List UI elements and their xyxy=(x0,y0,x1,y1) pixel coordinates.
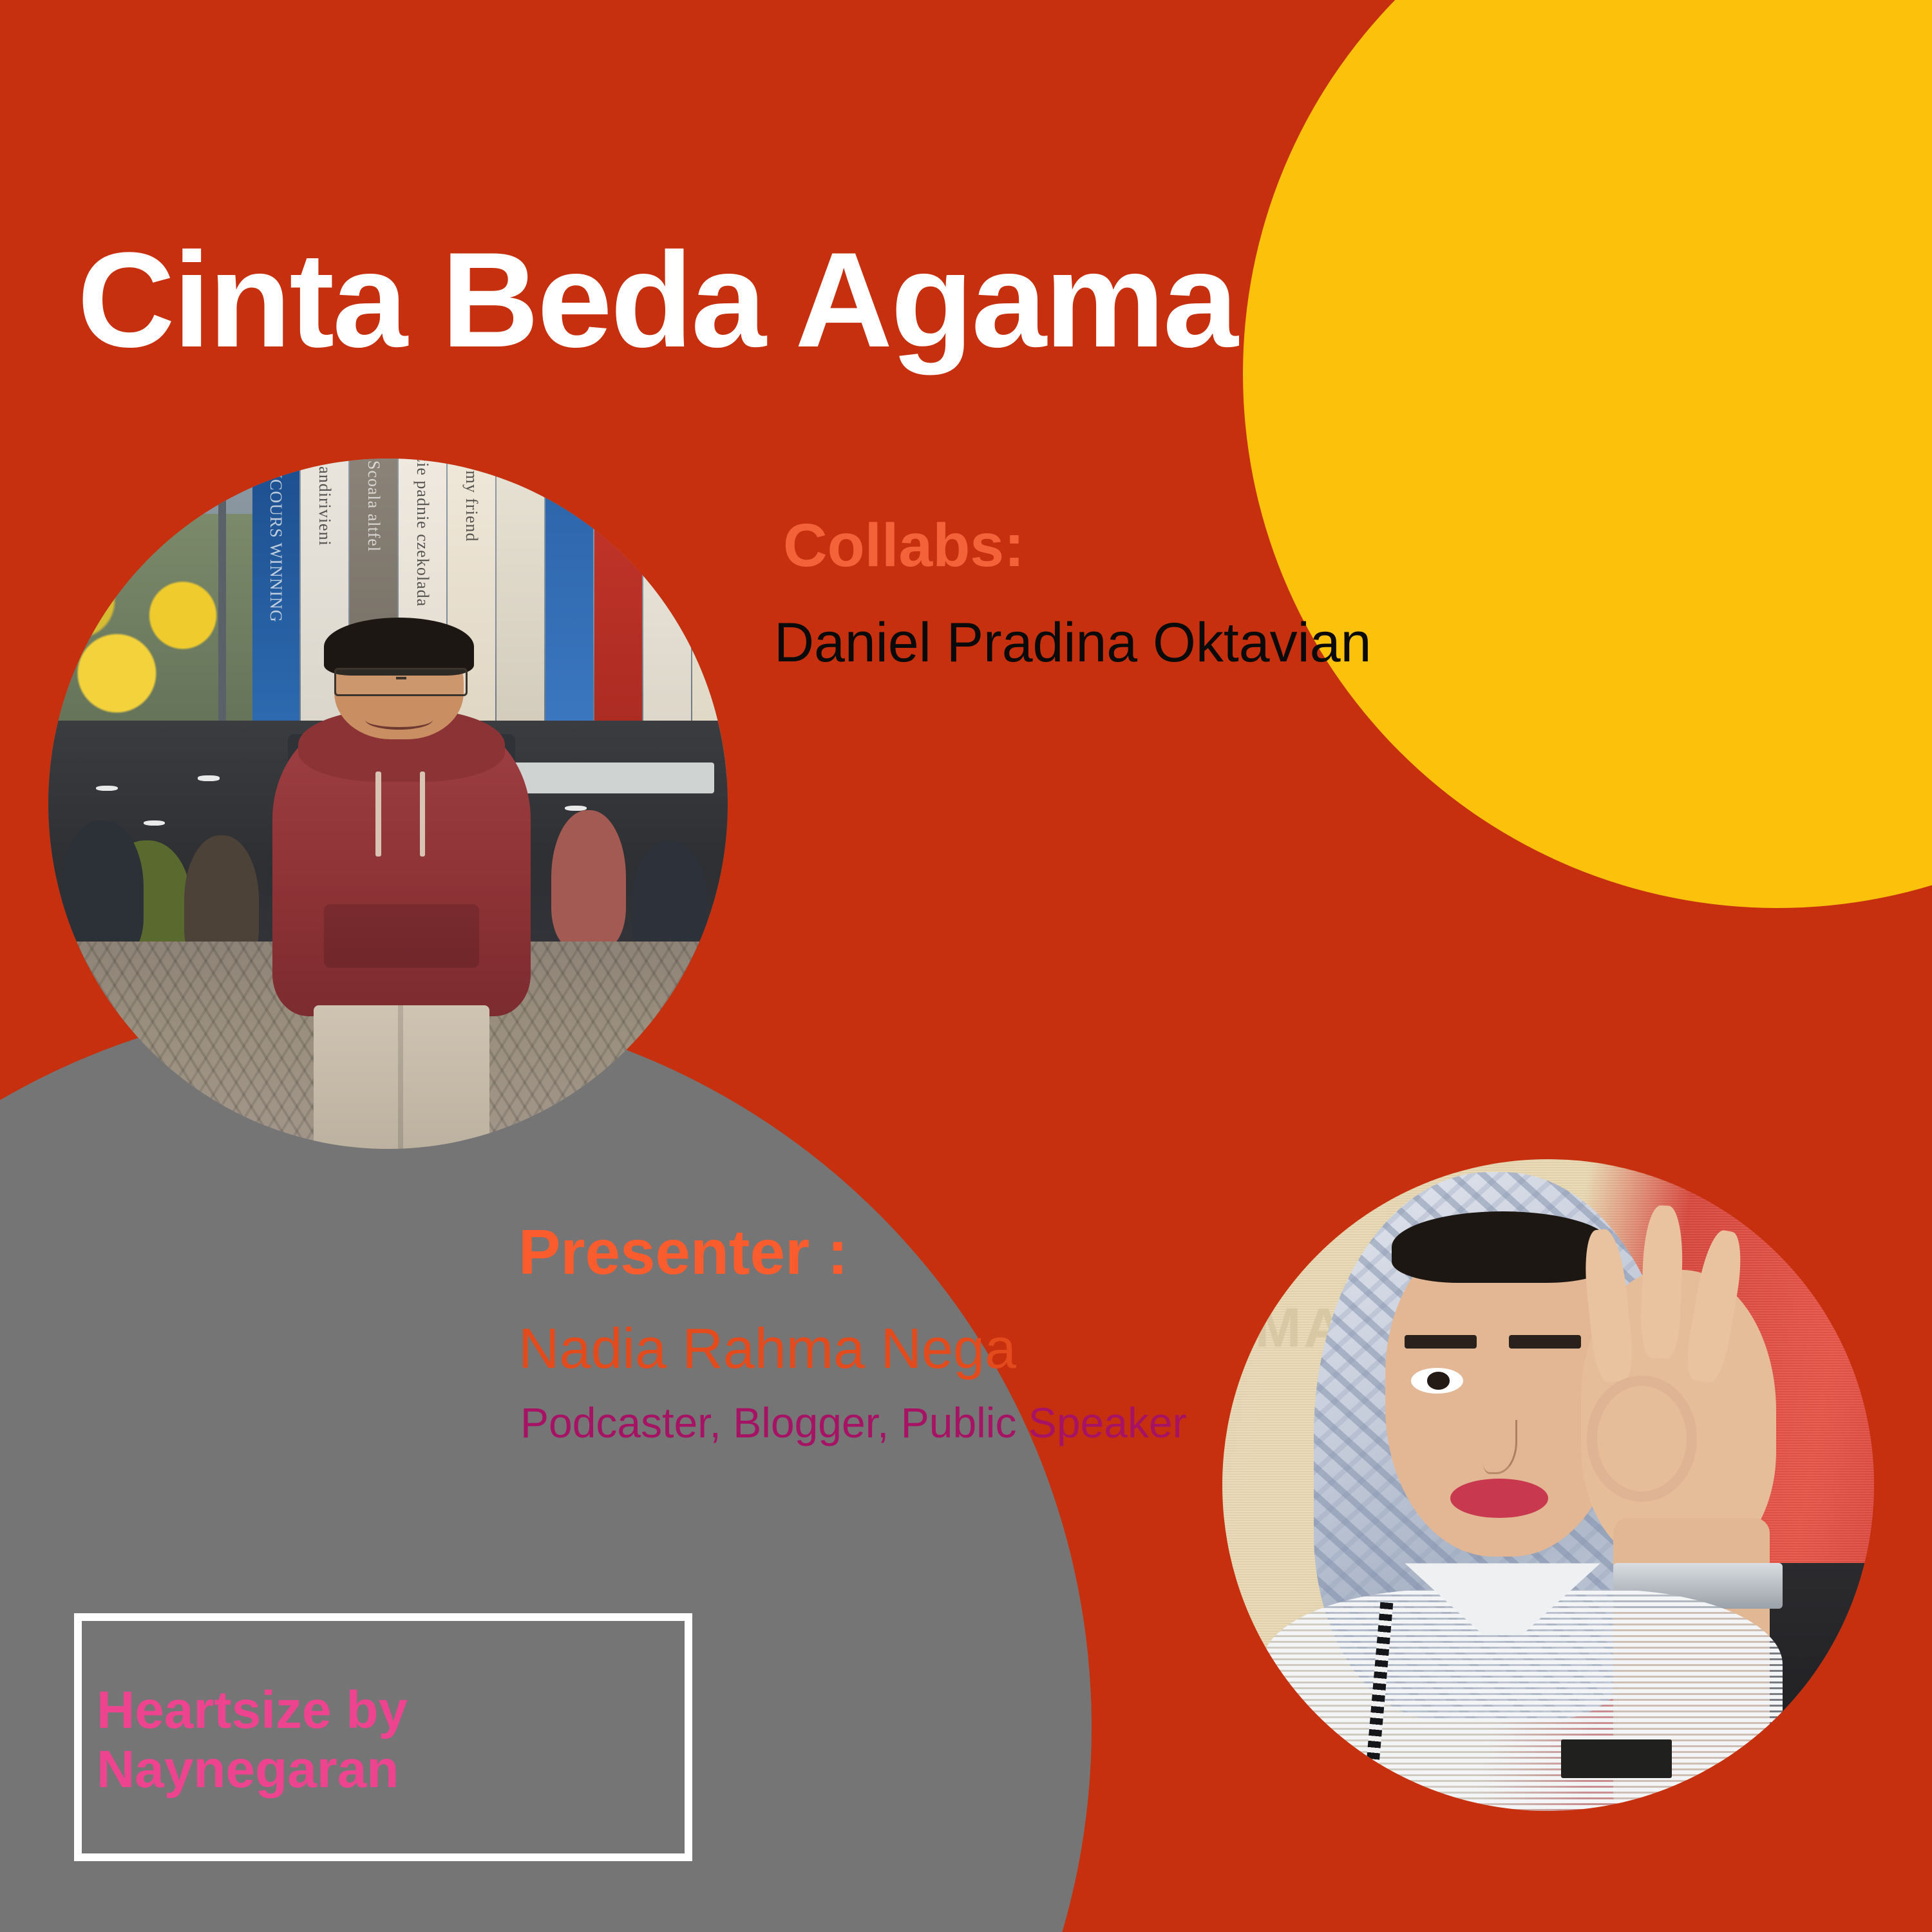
book-spine-label: Bepuiat xyxy=(609,478,628,535)
collabs-photo: NAMI CONCOURS WINNING andirivieni Scoala… xyxy=(48,459,728,1149)
photo-eyebrow xyxy=(1509,1335,1580,1349)
photo-face-mask xyxy=(96,786,118,791)
book-spine-label: Scoala altfel xyxy=(364,460,383,552)
photo-face-mask xyxy=(198,775,220,781)
presenter-photo: MA xyxy=(1222,1159,1874,1811)
collabs-name: Daniel Pradina Oktavian xyxy=(774,615,1371,670)
photo-hood-drawstring xyxy=(420,772,426,857)
page-title: Cinta Beda Agama xyxy=(77,232,1236,368)
book-spine-label: Wszedzie padnie czekolada xyxy=(413,459,432,607)
photo-person xyxy=(551,810,626,949)
presenter-name: Nadia Rahma Nega xyxy=(518,1320,1016,1377)
book-spine-label: andirivieni xyxy=(315,466,334,546)
presenter-label: Presenter : xyxy=(518,1220,848,1283)
photo-subject-man xyxy=(272,618,531,1149)
poster-canvas: NAMI CONCOURS WINNING andirivieni Scoala… xyxy=(0,0,1932,1932)
photo-hoodie-pocket xyxy=(324,904,479,968)
photo-eyebrow xyxy=(1405,1335,1476,1349)
photo-face-mask xyxy=(144,820,166,826)
book-spine-label: TATANTRA xyxy=(658,461,677,552)
photo-name-badge xyxy=(1561,1739,1672,1779)
book-spine-label: my friend xyxy=(462,471,481,542)
photo-hair xyxy=(324,618,474,676)
collabs-label: Collabs: xyxy=(783,515,1025,576)
photo-person xyxy=(62,820,144,960)
photo-lips xyxy=(1450,1479,1548,1518)
photo-hood-drawstring xyxy=(375,772,381,857)
brand-name: Heartsize by Naynegaran xyxy=(97,1681,408,1799)
photo-ok-ring xyxy=(1587,1376,1698,1502)
book-spine-label: NAMI CONCOURS WINNING xyxy=(266,459,285,623)
photo-hair-fringe xyxy=(1392,1211,1613,1283)
presenter-roles: Podcaster, Blogger, Public Speaker xyxy=(520,1401,1187,1444)
photo-eyeglasses xyxy=(334,668,467,696)
photo-khaki-pants xyxy=(314,1005,489,1149)
